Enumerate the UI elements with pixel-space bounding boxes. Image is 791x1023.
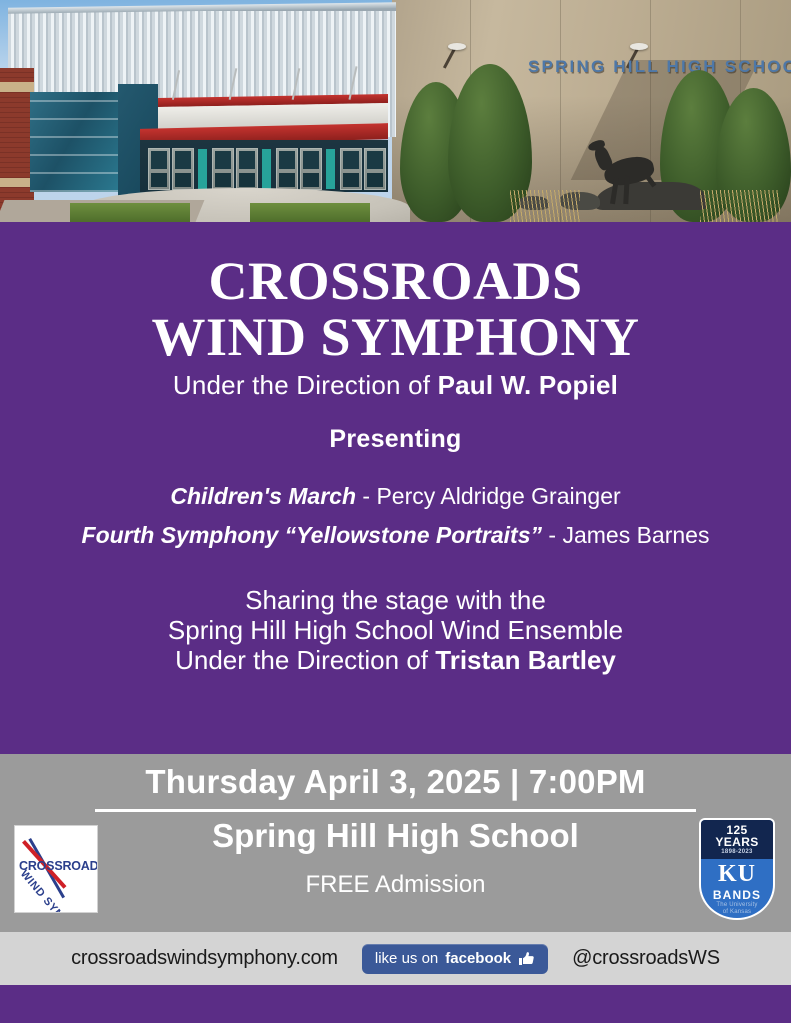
event-admission: FREE Admission [0,871,791,899]
program-item: Children's March - Percy Aldridge Graing… [0,483,791,510]
ensemble-name-line2: WIND SYMPHONY [0,308,791,366]
crossroads-wind-symphony-logo: CROSSROADS WIND SYMPHONY [14,825,98,913]
guest-conductor-credit: Under the Direction of Tristan Bartley [0,645,791,675]
footer-bar: crossroadswindsymphony.com like us on fa… [0,932,791,985]
wall-light [448,43,466,50]
teal-panel [326,149,335,189]
brick-accent-band [0,82,34,92]
program-item-separator: - [542,522,562,548]
entrance-door [364,148,386,190]
footer-content: crossroadswindsymphony.com like us on fa… [71,944,720,974]
entrance-door [236,148,258,190]
guest-conductor-name: Tristan Bartley [435,645,616,675]
entrance-door [300,148,322,190]
shield-icon: 125 YEARS 1898-2023 KU BANDS The Univers… [701,820,773,918]
program-item: Fourth Symphony “Yellowstone Portraits” … [0,522,791,549]
entrance-doors [140,140,388,192]
divider-rule [95,809,696,812]
ku-university-line1: The University [701,902,773,909]
lawn [70,203,190,222]
teal-panel [198,149,207,189]
guest-conductor-prefix: Under the Direction of [175,645,435,675]
purple-content-panel: CROSSROADS WIND SYMPHONY Under the Direc… [0,222,791,754]
ku-years-label: YEARS [701,836,773,848]
social-handle[interactable]: @crossroadsWS [572,947,720,970]
ku-year-range: 1898-2023 [701,849,773,855]
conductor-credit: Under the Direction of Paul W. Popiel [0,370,791,401]
ornamental-grass [510,190,580,222]
conductor-name: Paul W. Popiel [438,370,619,400]
ku-bands-label: BANDS [701,888,773,902]
ornamental-grass [700,190,780,222]
school-photo-banner: SPRING HILL HIGH SCHOOL [0,0,791,222]
ensemble-name-line1: CROSSROADS [0,252,791,310]
event-details-band: Thursday April 3, 2025 | 7:00PM Spring H… [0,754,791,932]
thumbs-up-icon [518,951,535,966]
entrance-door [172,148,194,190]
entrance-door [276,148,298,190]
program-item-composer: Percy Aldridge Grainger [376,483,620,509]
guest-line-1: Sharing the stage with the [0,585,791,615]
wall-light [630,43,648,50]
bottom-purple-bar [0,985,791,1023]
event-datetime: Thursday April 3, 2025 | 7:00PM [0,763,791,801]
guest-ensemble-name: Spring Hill High School Wind Ensemble [0,615,791,645]
program-item-work: Fourth Symphony “Yellowstone Portraits” [82,522,542,548]
entrance-door [340,148,362,190]
ku-university-line2: of Kansas [701,909,773,916]
facebook-brand-label: facebook [445,950,511,967]
concert-poster: SPRING HILL HIGH SCHOOL [0,0,791,1023]
program-item-work: Children's March [170,483,356,509]
lawn [250,203,370,222]
facebook-button-label: like us on [375,950,438,967]
glass-curtain-wall [30,92,125,192]
school-building-sign: SPRING HILL HIGH SCHOOL [528,57,791,77]
program-item-composer: James Barnes [562,522,709,548]
ku-university-label: The University of Kansas [701,902,773,916]
conductor-credit-prefix: Under the Direction of [173,370,438,400]
website-link[interactable]: crossroadswindsymphony.com [71,947,338,970]
program-item-separator: - [356,483,376,509]
event-venue: Spring Hill High School [0,817,791,855]
entrance-door [148,148,170,190]
facebook-like-button[interactable]: like us on facebook [362,944,548,974]
entrance-door [212,148,234,190]
guest-ensemble-block: Sharing the stage with the Spring Hill H… [0,585,791,675]
brick-accent-band [0,178,34,187]
ku-bands-logo: 125 YEARS 1898-2023 KU BANDS The Univers… [701,820,773,918]
ku-initials: KU [701,862,773,887]
teal-panel [262,149,271,189]
program-heading: Presenting [0,425,791,454]
